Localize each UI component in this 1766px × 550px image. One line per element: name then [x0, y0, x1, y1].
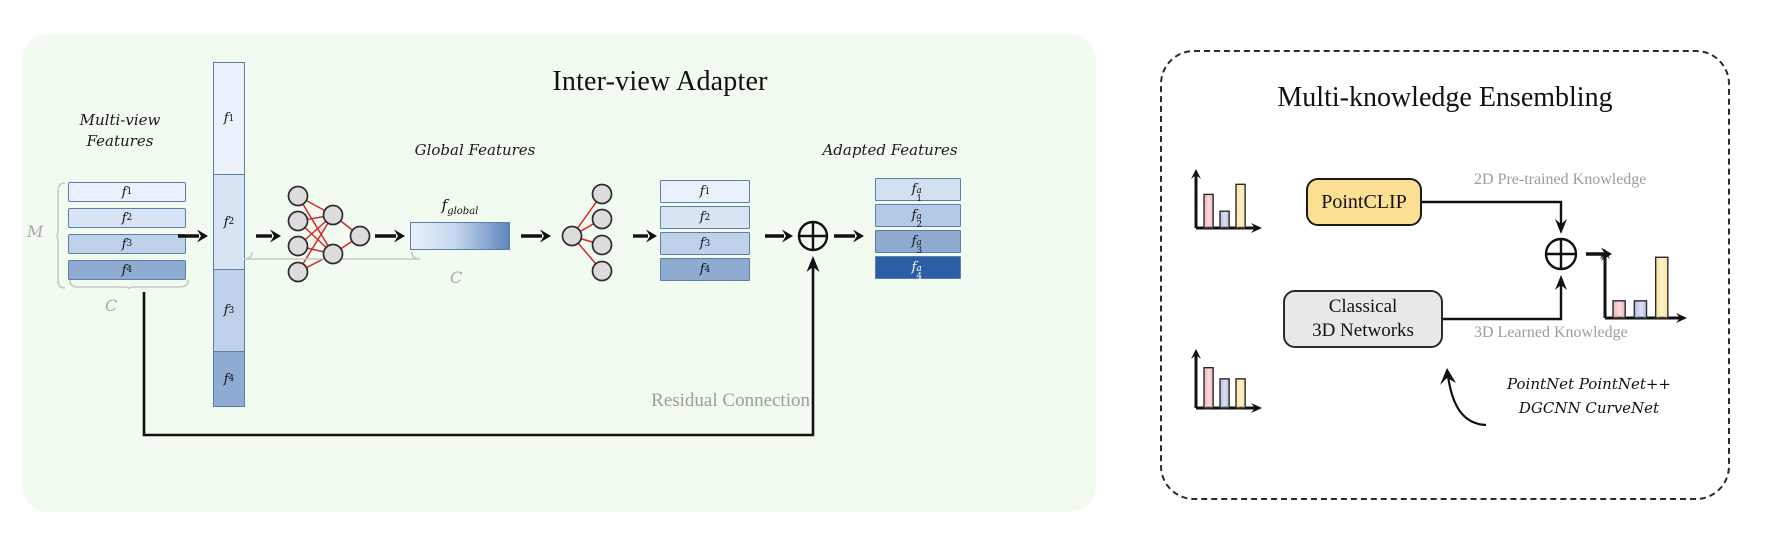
concat-cell-3-sub: 3 [229, 306, 235, 316]
concat-cell-1-sub: 1 [229, 114, 235, 124]
adapted-feature-1-sub: 1 [916, 194, 922, 204]
inter-view-adapter-title: Inter-view Adapter [470, 66, 850, 98]
adapted-feature-4-sub: 4 [916, 272, 922, 282]
adapted-features-stack: fa1fa2fa3fa4 [875, 178, 961, 282]
mlp-encoder [282, 182, 372, 290]
classical-3d-networks-label-line2: 3D Networks [1312, 319, 1414, 343]
decoded-feature-3: f3 [660, 232, 750, 255]
f-global-label: fglobal [405, 196, 515, 217]
pointclip-label: PointCLIP [1321, 191, 1407, 214]
adapted-feature-3: fa3 [875, 230, 961, 253]
knowledge-2d-label: 2D Pre-trained Knowledge [1474, 171, 1646, 189]
global-features-label: Global Features [375, 140, 575, 161]
multi-view-features-label-line1: Multi-view [80, 111, 161, 129]
pointclip-box[interactable]: PointCLIP [1306, 178, 1422, 226]
multi-knowledge-ensembling-panel [1160, 50, 1730, 500]
adapted-features-label: Adapted Features [790, 140, 990, 161]
classical-3d-networks-label-line1: Classical [1329, 295, 1398, 319]
concat-cell-2: f2 [214, 175, 244, 270]
multi-view-feature-3: f3 [68, 234, 186, 254]
multi-view-features-label: Multi-view Features [40, 110, 200, 152]
network-list-line2: DGCNN CurveNet [1494, 396, 1684, 420]
concatenated-feature-column: f1f2f3f4 [213, 62, 245, 407]
concat-cell-3: f3 [214, 270, 244, 352]
classical-3d-networks-box[interactable]: Classical 3D Networks [1283, 290, 1443, 348]
decoded-features-stack: f1f2f3f4 [660, 180, 750, 284]
mlp-decoder [560, 180, 630, 290]
adapted-feature-4: fa4 [875, 256, 961, 279]
dimension-label-m: M [27, 222, 43, 241]
adapted-feature-2-sub: 2 [916, 220, 922, 230]
adapted-feature-1: fa1 [875, 178, 961, 201]
multi-view-feature-2: f2 [68, 208, 186, 228]
concat-cell-2-sub: 2 [229, 217, 235, 227]
multi-view-feature-3-sub: 3 [127, 239, 133, 249]
decoded-feature-4: f4 [660, 258, 750, 281]
f-global-subscript: global [447, 206, 478, 217]
multi-view-features-stack: f1f2f3f4 [68, 182, 186, 286]
decoded-feature-1-sub: 1 [705, 187, 711, 197]
adapted-feature-3-sub: 3 [916, 246, 922, 256]
multi-view-feature-1: f1 [68, 182, 186, 202]
adapted-feature-2: fa2 [875, 204, 961, 227]
multi-view-feature-2-sub: 2 [127, 213, 133, 223]
decoded-feature-2: f2 [660, 206, 750, 229]
residual-connection-label: Residual Connection [580, 390, 810, 412]
multi-view-feature-1-sub: 1 [127, 187, 133, 197]
diagram-canvas: Inter-view Adapter Multi-view Features G… [0, 0, 1766, 550]
multi-view-features-label-line2: Features [87, 132, 154, 150]
global-feature-bar [410, 222, 510, 250]
multi-view-feature-4: f4 [68, 260, 186, 280]
dimension-label-c2: C [450, 268, 462, 287]
concat-cell-4: f4 [214, 352, 244, 406]
dimension-label-c: C [105, 296, 117, 315]
decoded-feature-4-sub: 4 [705, 265, 711, 275]
concat-cell-4-sub: 4 [229, 374, 235, 384]
concat-cell-1: f1 [214, 63, 244, 175]
decoded-feature-2-sub: 2 [705, 213, 711, 223]
knowledge-3d-label: 3D Learned Knowledge [1474, 324, 1628, 342]
multi-view-feature-4-sub: 4 [127, 265, 133, 275]
network-list-annotation: PointNet PointNet++ DGCNN CurveNet [1494, 372, 1684, 420]
multi-knowledge-ensembling-title: Multi-knowledge Ensembling [1200, 82, 1690, 114]
decoded-feature-1: f1 [660, 180, 750, 203]
decoded-feature-3-sub: 3 [705, 239, 711, 249]
network-list-line1: PointNet PointNet++ [1494, 372, 1684, 396]
